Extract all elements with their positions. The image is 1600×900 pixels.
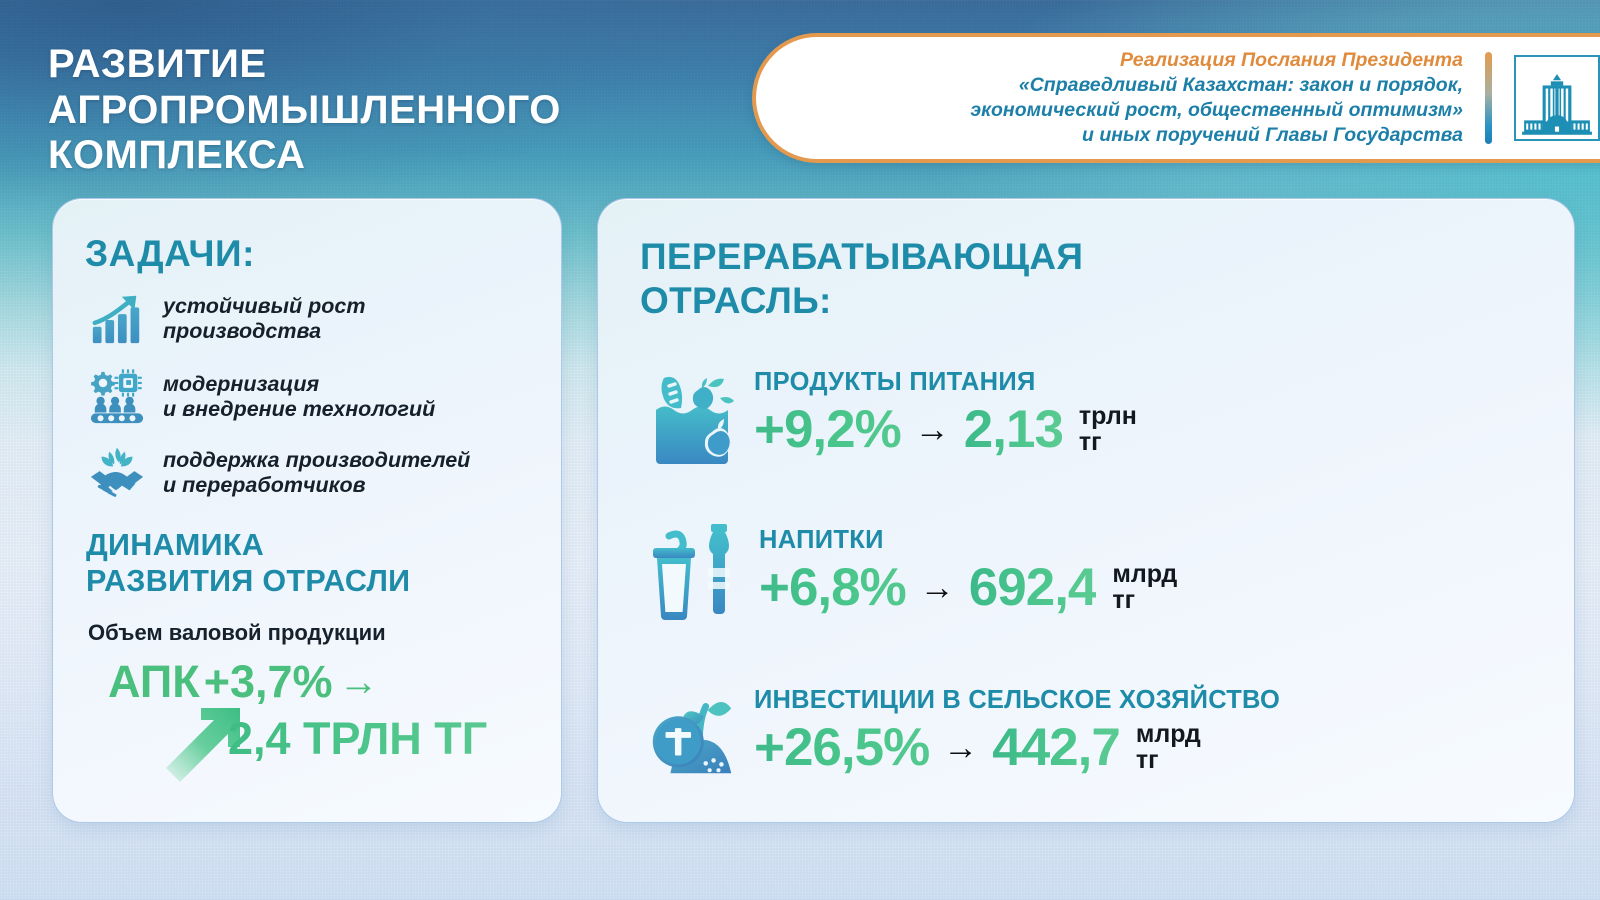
metric-label: НАПИТКИ bbox=[759, 526, 1177, 555]
metric-unit: млрд тг bbox=[1112, 562, 1177, 613]
task-label: модернизация и внедрение технологий bbox=[163, 372, 435, 422]
metric-body: ПРОДУКТЫ ПИТАНИЯ +9,2% → 2,13 трлн тг bbox=[744, 368, 1137, 460]
badge-line-2: «Справедливый Казахстан: закон и порядок… bbox=[756, 73, 1463, 98]
task-item-producer-support: поддержка производителей и переработчико… bbox=[86, 442, 470, 504]
dynamics-subtitle: Объем валовой продукции bbox=[88, 620, 386, 646]
handshake-leaf-icon bbox=[86, 442, 148, 504]
badge-divider bbox=[1485, 52, 1492, 144]
task-item-production-growth: устойчивый рост производства bbox=[86, 288, 365, 350]
metric-values: +6,8% → 692,4 млрд тг bbox=[759, 557, 1177, 618]
beverages-icon bbox=[645, 518, 749, 626]
metric-percent: +26,5% bbox=[754, 717, 929, 778]
task-label: поддержка производителей и переработчико… bbox=[163, 448, 470, 498]
factory-automation-icon bbox=[86, 366, 148, 428]
metric-unit: трлн тг bbox=[1079, 404, 1137, 455]
metric-percent: +6,8% bbox=[759, 557, 906, 618]
metric-value: 2,13 bbox=[964, 399, 1063, 460]
processing-heading: ПЕРЕРАБАТЫВАЮЩАЯ ОТРАСЛЬ: bbox=[640, 235, 1083, 324]
dynamics-metric-value: 2,4 ТРЛН ТГ bbox=[228, 713, 487, 765]
page-title: РАЗВИТИЕ АГРОПРОМЫШЛЕННОГО КОМПЛЕКСА bbox=[48, 42, 708, 179]
metric-percent: +9,2% bbox=[754, 399, 901, 460]
task-item-modernization: модернизация и внедрение технологий bbox=[86, 366, 435, 428]
president-address-badge: Реализация Послания Президента «Справедл… bbox=[752, 33, 1600, 163]
metric-value: 442,7 bbox=[992, 717, 1120, 778]
agriculture-investment-icon bbox=[640, 678, 744, 786]
metric-row-agriculture-investment: ИНВЕСТИЦИИ В СЕЛЬСКОЕ ХОЗЯЙСТВО +26,5% →… bbox=[640, 678, 1280, 786]
badge-text: Реализация Послания Президента «Справедл… bbox=[756, 48, 1485, 148]
metric-label: ИНВЕСТИЦИИ В СЕЛЬСКОЕ ХОЗЯЙСТВО bbox=[754, 686, 1280, 715]
growth-bar-chart-icon bbox=[86, 288, 148, 350]
metric-row-food-products: ПРОДУКТЫ ПИТАНИЯ +9,2% → 2,13 трлн тг bbox=[640, 360, 1137, 468]
government-building-icon bbox=[1514, 55, 1600, 141]
dynamics-arrow-glyph: → bbox=[339, 660, 379, 705]
metric-arrow-glyph: → bbox=[943, 730, 978, 765]
metric-arrow-glyph: → bbox=[920, 570, 955, 605]
metric-value: 692,4 bbox=[969, 557, 1097, 618]
badge-line-3: экономический рост, общественный оптимиз… bbox=[756, 98, 1463, 123]
metric-row-beverages: НАПИТКИ +6,8% → 692,4 млрд тг bbox=[645, 518, 1177, 626]
badge-line-4: и иных поручений Главы Государства bbox=[756, 123, 1463, 148]
badge-logo bbox=[1492, 55, 1600, 141]
metric-values: +9,2% → 2,13 трлн тг bbox=[754, 399, 1137, 460]
metric-unit: млрд тг bbox=[1136, 722, 1201, 773]
badge-line-1: Реализация Послания Президента bbox=[756, 48, 1463, 73]
dynamics-heading: ДИНАМИКА РАЗВИТИЯ ОТРАСЛИ bbox=[86, 528, 410, 599]
metric-body: НАПИТКИ +6,8% → 692,4 млрд тг bbox=[749, 526, 1177, 618]
metric-body: ИНВЕСТИЦИИ В СЕЛЬСКОЕ ХОЗЯЙСТВО +26,5% →… bbox=[744, 686, 1280, 778]
metric-label: ПРОДУКТЫ ПИТАНИЯ bbox=[754, 368, 1137, 397]
grocery-bag-icon bbox=[640, 360, 744, 468]
task-label: устойчивый рост производства bbox=[163, 294, 365, 344]
metric-values: +26,5% → 442,7 млрд тг bbox=[754, 717, 1280, 778]
metric-arrow-glyph: → bbox=[915, 412, 950, 447]
tasks-heading: ЗАДАЧИ: bbox=[85, 233, 255, 275]
